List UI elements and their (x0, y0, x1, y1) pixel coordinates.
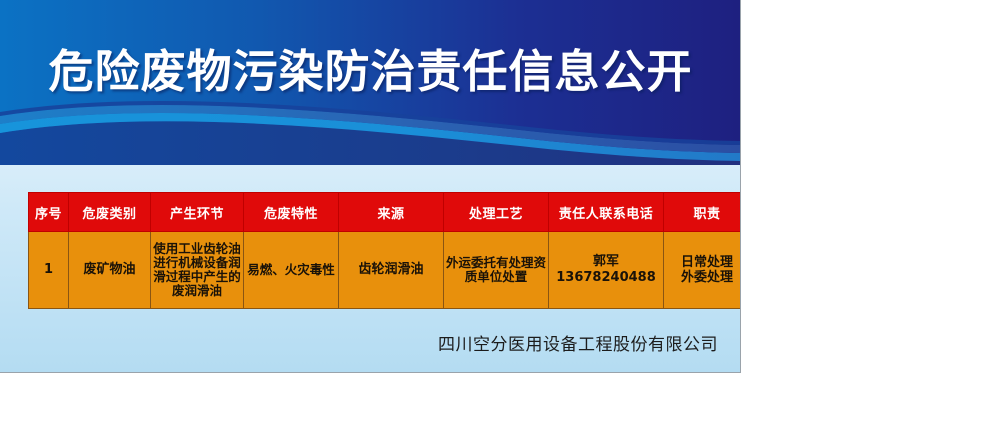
page-title: 危险废物污染防治责任信息公开 (0, 49, 741, 94)
header-banner: 危险废物污染防治责任信息公开 (0, 0, 741, 165)
column-header-index: 序号 (29, 193, 69, 232)
cell-generation-stage: 使用工业齿轮油进行机械设备润滑过程中产生的废润滑油 (151, 232, 244, 309)
column-header-category: 危废类别 (69, 193, 151, 232)
cell-duty: 日常处理外委处理 (664, 232, 742, 309)
cell-contact: 郭军13678240488 (549, 232, 664, 309)
column-header-source: 来源 (339, 193, 444, 232)
cell-characteristics: 易燃、火灾毒性 (244, 232, 339, 309)
company-name: 四川空分医用设备工程股份有限公司 (0, 330, 718, 355)
column-header-treatment: 处理工艺 (444, 193, 549, 232)
column-header-generation-stage: 产生环节 (151, 193, 244, 232)
column-header-duty: 职责 (664, 193, 742, 232)
column-header-contact-phone: 责任人联系电话 (549, 193, 664, 232)
contact-name: 郭军 (593, 254, 619, 269)
column-header-characteristics: 危废特性 (244, 193, 339, 232)
poster-panel: 危险废物污染防治责任信息公开 序号 危废类别 产生环节 危废特性 来源 处理工艺… (0, 0, 741, 373)
cell-category: 废矿物油 (69, 232, 151, 309)
cell-index: 1 (29, 232, 69, 309)
duty-line-2: 外委处理 (681, 270, 733, 285)
table-row: 1 废矿物油 使用工业齿轮油进行机械设备润滑过程中产生的废润滑油 易燃、火灾毒性… (29, 232, 742, 309)
table-header-row: 序号 危废类别 产生环节 危废特性 来源 处理工艺 责任人联系电话 职责 (29, 193, 742, 232)
cell-treatment: 外运委托有处理资质单位处置 (444, 232, 549, 309)
cell-source: 齿轮润滑油 (339, 232, 444, 309)
hazardous-waste-table: 序号 危废类别 产生环节 危废特性 来源 处理工艺 责任人联系电话 职责 1 废… (28, 192, 741, 309)
duty-line-1: 日常处理 (681, 255, 733, 270)
contact-phone: 13678240488 (556, 270, 656, 285)
